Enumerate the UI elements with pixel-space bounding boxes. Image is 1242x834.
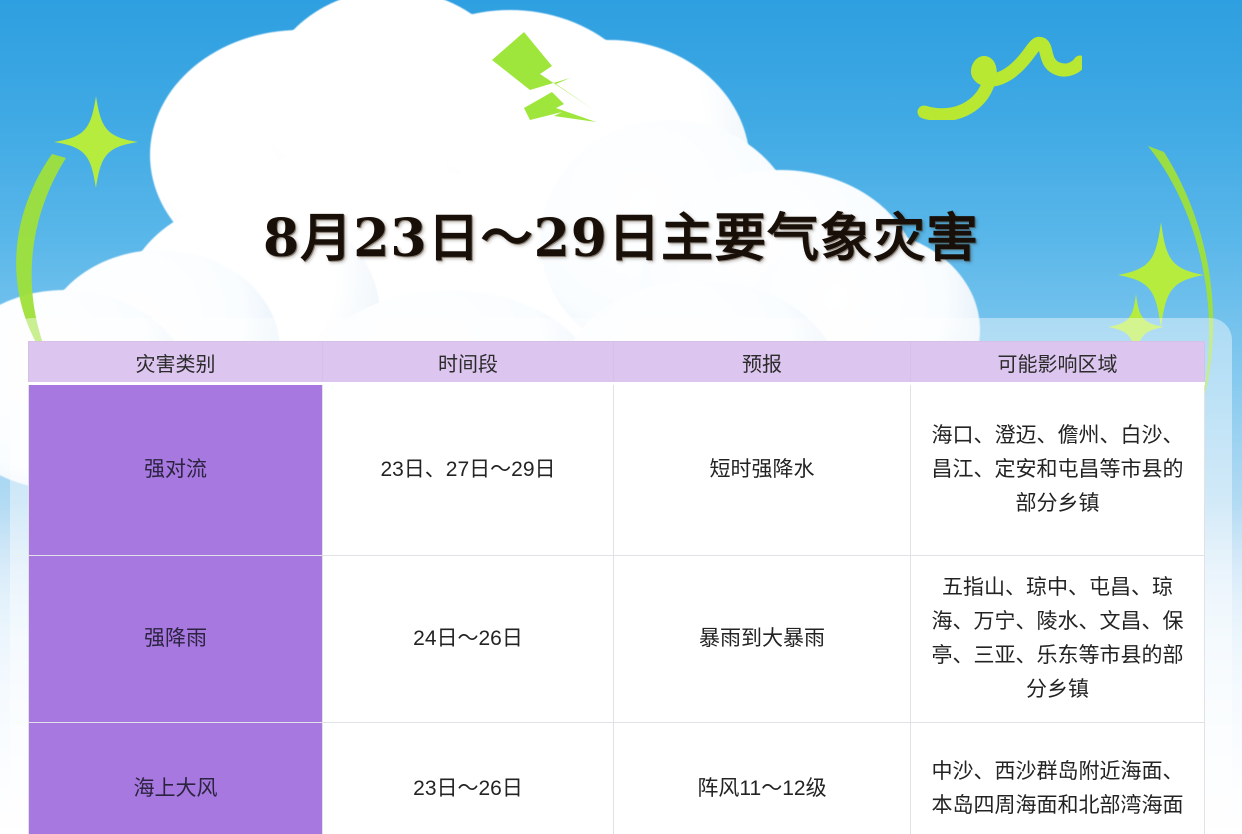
table-row: 海上大风 23日～26日 阵风11～12级 中沙、西沙群岛附近海面、本岛四周海面… [29,723,1205,834]
column-header-category: 灾害类别 [29,342,323,384]
cell-category: 强对流 [29,384,323,556]
page-title: 8月23日～29日主要气象灾害 [0,196,1242,271]
column-header-period: 时间段 [323,342,614,384]
cell-forecast: 短时强降水 [614,384,911,556]
column-header-forecast: 预报 [614,342,911,384]
cell-category: 海上大风 [29,723,323,834]
cell-period: 24日～26日 [323,556,614,723]
weather-disaster-infographic: 8月23日～29日主要气象灾害 灾害类别 时间段 预报 可能影响区域 强对流 2… [0,0,1242,834]
cell-period: 23日、27日～29日 [323,384,614,556]
cell-forecast: 阵风11～12级 [614,723,911,834]
table-row: 强对流 23日、27日～29日 短时强降水 海口、澄迈、儋州、白沙、昌江、定安和… [29,384,1205,556]
table-header-row: 灾害类别 时间段 预报 可能影响区域 [29,342,1205,384]
cell-area: 五指山、琼中、屯昌、琼海、万宁、陵水、文昌、保亭、三亚、乐东等市县的部分乡镇 [911,556,1205,723]
cell-period: 23日～26日 [323,723,614,834]
cell-forecast: 暴雨到大暴雨 [614,556,911,723]
table-row: 强降雨 24日～26日 暴雨到大暴雨 五指山、琼中、屯昌、琼海、万宁、陵水、文昌… [29,556,1205,723]
disaster-table: 灾害类别 时间段 预报 可能影响区域 强对流 23日、27日～29日 短时强降水… [28,341,1205,834]
cell-area: 海口、澄迈、儋州、白沙、昌江、定安和屯昌等市县的部分乡镇 [911,384,1205,556]
cell-category: 强降雨 [29,556,323,723]
column-header-area: 可能影响区域 [911,342,1205,384]
cell-area: 中沙、西沙群岛附近海面、本岛四周海面和北部湾海面 [911,723,1205,834]
disaster-table-wrapper: 灾害类别 时间段 预报 可能影响区域 强对流 23日、27日～29日 短时强降水… [28,341,1204,834]
